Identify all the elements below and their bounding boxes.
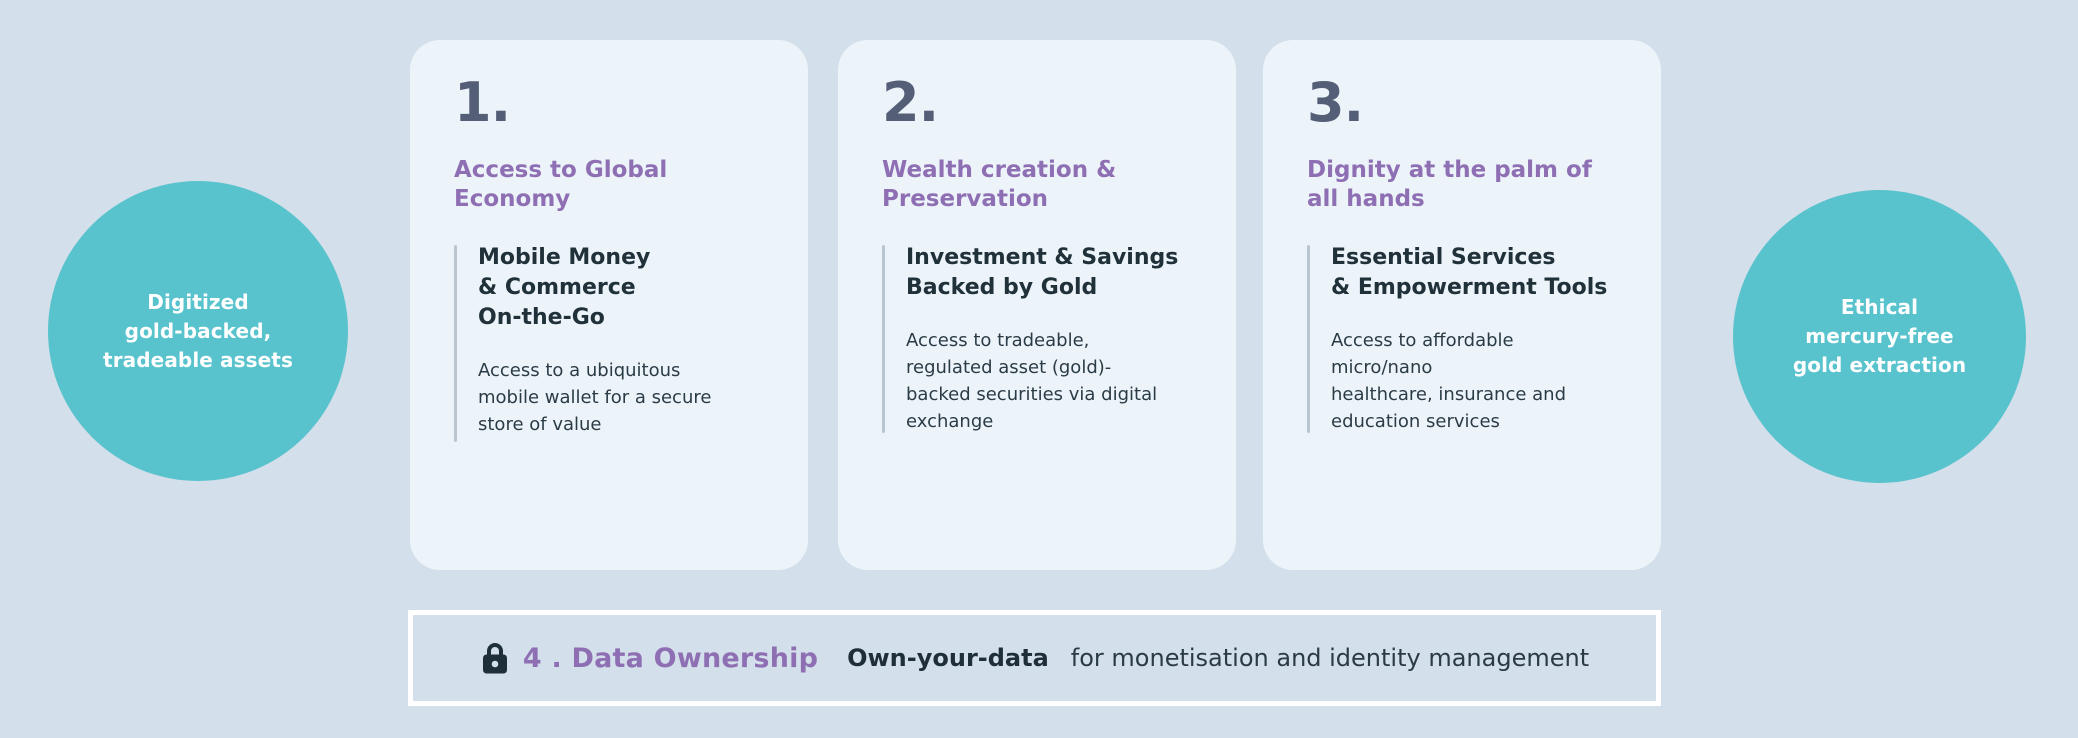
card-description: Access to a ubiquitous mobile wallet for…	[478, 357, 766, 438]
vertical-rule-divider	[882, 245, 885, 433]
card-wealth-creation-preservation[interactable]: 2. Wealth creation & Preservation Invest…	[838, 40, 1236, 570]
card-body: Essential Services & Empowerment Tools A…	[1307, 243, 1619, 435]
card-body: Investment & Savings Backed by Gold Acce…	[882, 243, 1194, 435]
card-description: Access to tradeable, regulated asset (go…	[906, 327, 1194, 435]
data-ownership-bar[interactable]: 4 . Data Ownership Own-your-data for mon…	[408, 610, 1661, 706]
lock-icon	[480, 641, 510, 675]
card-heading: Wealth creation & Preservation	[882, 156, 1194, 215]
card-heading: Access to Global Economy	[454, 156, 766, 215]
card-dignity-at-the-palm-of-all-hands[interactable]: 3. Dignity at the palm of all hands Esse…	[1263, 40, 1661, 570]
data-ownership-bar-content: 4 . Data Ownership Own-your-data for mon…	[480, 641, 1589, 675]
data-ownership-label: 4 . Data Ownership	[523, 643, 818, 674]
circle-right-label: Ethical mercury-free gold extraction	[1793, 293, 1966, 380]
card-subtitle: Investment & Savings Backed by Gold	[906, 243, 1194, 303]
infographic-canvas: Digitized gold-backed, tradeable assets …	[0, 0, 2078, 738]
card-number: 2.	[882, 76, 1194, 130]
card-access-to-global-economy[interactable]: 1. Access to Global Economy Mobile Money…	[410, 40, 808, 570]
circle-left-label: Digitized gold-backed, tradeable assets	[103, 288, 293, 375]
card-number: 1.	[454, 76, 766, 130]
card-subtitle: Essential Services & Empowerment Tools	[1331, 243, 1619, 303]
card-heading: Dignity at the palm of all hands	[1307, 156, 1619, 215]
own-your-data-text: Own-your-data	[847, 644, 1049, 672]
card-body: Mobile Money & Commerce On-the-Go Access…	[454, 243, 766, 444]
circle-digitized-assets: Digitized gold-backed, tradeable assets	[48, 181, 348, 481]
vertical-rule-divider	[454, 245, 457, 442]
card-number: 3.	[1307, 76, 1619, 130]
circle-ethical-gold-extraction: Ethical mercury-free gold extraction	[1733, 190, 2026, 483]
card-description: Access to affordable micro/nano healthca…	[1331, 327, 1619, 435]
card-subtitle: Mobile Money & Commerce On-the-Go	[478, 243, 766, 333]
vertical-rule-divider	[1307, 245, 1310, 433]
data-ownership-description: for monetisation and identity management	[1071, 644, 1589, 672]
